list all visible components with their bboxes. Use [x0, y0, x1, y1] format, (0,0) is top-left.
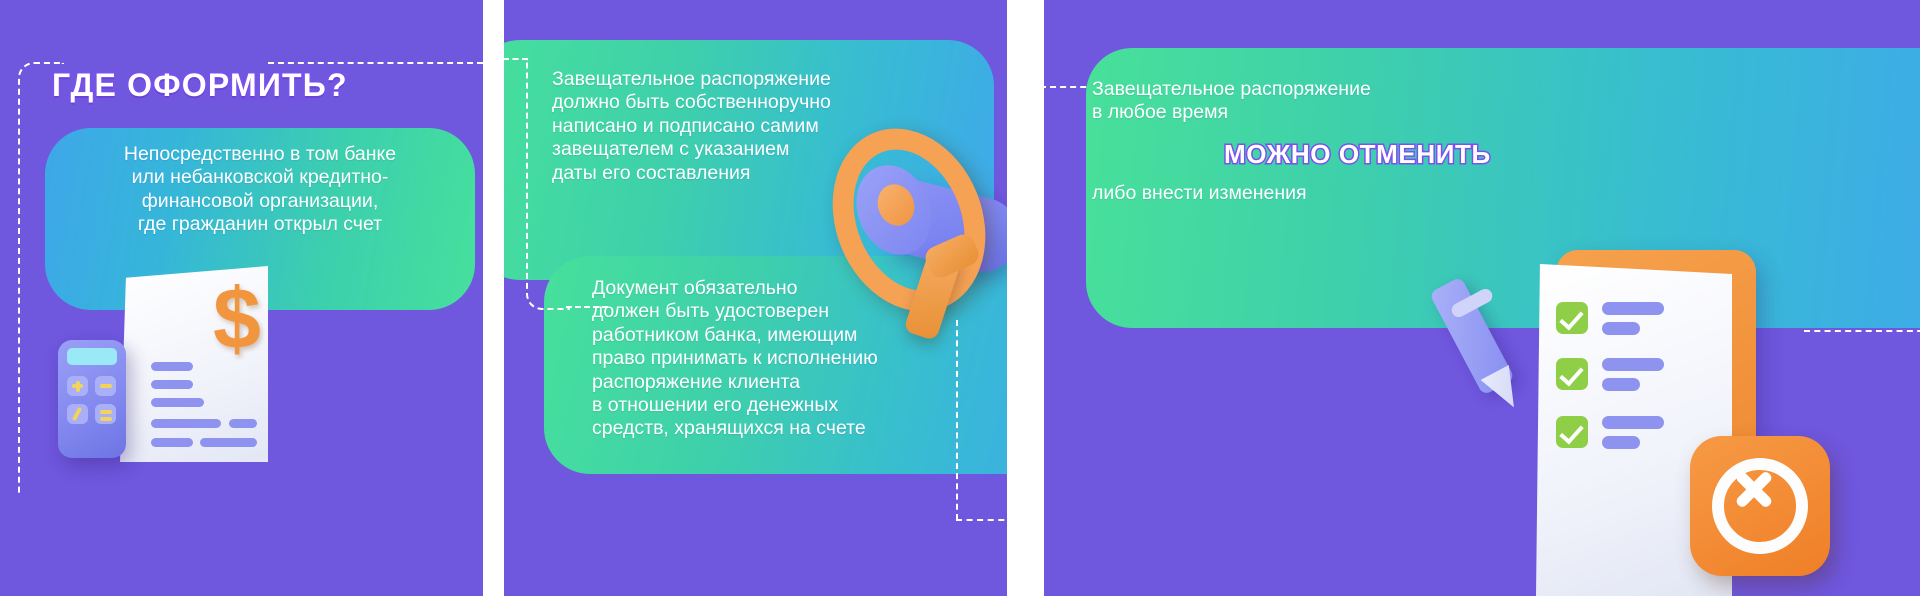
cancel-badge-ring	[1712, 458, 1808, 554]
checklist-line	[1602, 322, 1640, 335]
calculator-invoice-icon: $	[48, 252, 288, 462]
page-title: ГДЕ ОФОРМИТЬ?	[52, 67, 348, 104]
slide-3-card-top-text: Завещательное распоряжение в любое время	[1092, 78, 1652, 125]
checklist-line	[1602, 358, 1664, 371]
slide-1-card-text: Непосредственно в том банке или небанков…	[45, 143, 475, 237]
slide-gap-2	[1007, 0, 1044, 596]
checklist-line	[1602, 378, 1640, 391]
equals-glyph	[100, 410, 112, 414]
slide-gap-1	[483, 0, 504, 596]
invoice-line	[151, 438, 193, 447]
dollar-icon: $	[213, 276, 261, 362]
invoice-line	[200, 438, 257, 447]
slide-2: Завещательное распоряжение должно быть с…	[504, 0, 1007, 596]
connector-line-2-out	[956, 519, 1007, 521]
equals-glyph	[100, 417, 112, 421]
minus-glyph	[100, 384, 112, 388]
calculator-key	[95, 404, 116, 424]
checkbox-checked	[1556, 416, 1588, 448]
slide-3-card-bottom-text: либо внести изменения	[1092, 182, 1652, 205]
plus-glyph	[76, 381, 80, 392]
calculator-screen	[67, 348, 117, 365]
invoice-line	[151, 398, 204, 407]
slide-1: ГДЕ ОФОРМИТЬ? Непосредственно в том банк…	[0, 0, 483, 596]
invoice-line	[151, 380, 193, 389]
connector-line-2-left	[504, 58, 528, 60]
checkbox-checked	[1556, 358, 1588, 390]
slide-3-highlight: МОЖНО ОТМЕНИТЬ	[1224, 139, 1491, 170]
megaphone-icon	[822, 110, 1007, 360]
connector-line-1-right	[268, 62, 483, 64]
invoice-line	[151, 419, 221, 428]
invoice-line	[229, 419, 257, 428]
checklist-line	[1602, 302, 1664, 315]
checklist-line	[1602, 436, 1640, 449]
checklist-line	[1602, 416, 1664, 429]
checklist-pen-cancel-icon	[1444, 240, 1844, 596]
infographic-deck: ГДЕ ОФОРМИТЬ? Непосредственно в том банк…	[0, 0, 1920, 596]
connector-corner-3	[1044, 86, 1088, 334]
slide-3: Завещательное распоряжение в любое время…	[1044, 0, 1920, 596]
checkbox-checked	[1556, 302, 1588, 334]
invoice-line	[151, 362, 193, 371]
